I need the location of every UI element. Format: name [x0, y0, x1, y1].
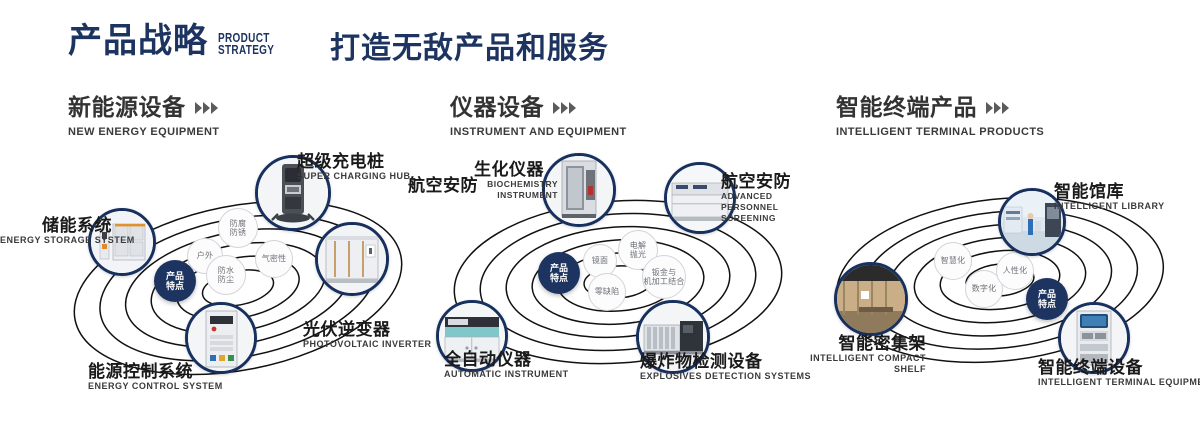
feature-bubble-text: 机加工结合 [644, 277, 685, 286]
section-title-intelligent-terminal: 智能终端产品 INTELLIGENT TERMINAL PRODUCTS [836, 96, 1044, 138]
chevron-right-icon [195, 102, 218, 114]
label-cn: 爆炸物检测设备 [640, 352, 811, 371]
label-biochemistry-instrument: 生化仪器 BIOCHEMISTRY INSTRUMENT [474, 160, 558, 201]
feature-bubble-text: 电解 [630, 241, 646, 250]
compact-shelf-icon [837, 265, 905, 333]
label-advanced-personnel-screening: 航空安防 ADVANCED PERSONNEL SCREENING [721, 172, 817, 224]
section-title-new-energy: 新能源设备 NEW ENERGY EQUIPMENT [68, 96, 219, 138]
label-cn: 储能系统 [0, 216, 112, 235]
core-badge-line2: 特点 [166, 281, 184, 291]
header-title-en-line2: STRATEGY [218, 44, 274, 56]
header-title-cn: 产品战略 [68, 24, 208, 58]
section-title-en: NEW ENERGY EQUIPMENT [68, 126, 219, 138]
feature-bubble-text: 户外 [197, 251, 213, 260]
section-title-cn: 仪器设备 [450, 96, 544, 119]
feature-bubble-text: 人性化 [1003, 266, 1028, 275]
label-cn: 航空安防 [721, 172, 817, 191]
label-aviation-security-left: 航空安防 [408, 176, 478, 195]
label-cn: 智能终端设备 [1038, 358, 1200, 377]
feature-bubble-text: 钣金与 [652, 268, 677, 277]
feature-bubble-humanized: 人性化 [996, 252, 1034, 290]
core-badge-line1: 产品 [1038, 289, 1056, 299]
label-cn: 智能馆库 [1054, 182, 1165, 201]
section-title-en: INSTRUMENT AND EQUIPMENT [450, 126, 627, 138]
feature-bubble-waterproof: 防水 防尘 [206, 255, 246, 295]
feature-bubble-text: 气密性 [262, 254, 287, 263]
feature-bubble-text: 防水 [218, 266, 234, 275]
core-badge-line2: 特点 [1038, 299, 1056, 309]
label-cn: 全自动仪器 [444, 350, 569, 369]
label-cn: 超级充电桩 [297, 152, 411, 171]
label-automatic-instrument: 全自动仪器 AUTOMATIC INSTRUMENT [444, 350, 569, 380]
section-title-instrument: 仪器设备 INSTRUMENT AND EQUIPMENT [450, 96, 627, 138]
label-cn: 智能密集架 [806, 334, 926, 353]
pv-inverter-cabinet-icon [318, 225, 386, 293]
label-super-charging-hub: 超级充电桩 SUPER CHARGING HUB [297, 152, 411, 182]
label-energy-control-system: 能源控制系统 ENERGY CONTROL SYSTEM [88, 362, 223, 392]
section-title-cn: 智能终端产品 [836, 96, 977, 119]
feature-bubble-zero-defect: 零缺陷 [588, 273, 626, 311]
label-en: PHOTOVOLTAIC INVERTER [303, 339, 432, 350]
feature-bubble-sheetmetal-machining: 钣金与 机加工结合 [642, 255, 686, 299]
feature-bubble-text: 镜面 [592, 256, 608, 265]
feature-bubble-text: 防锈 [230, 228, 246, 237]
feature-bubble-smart: 智慧化 [934, 242, 972, 280]
label-en: SUPER CHARGING HUB [297, 171, 411, 182]
node-intelligent-compact-shelf[interactable] [834, 262, 908, 336]
feature-bubble-text: 智慧化 [941, 256, 966, 265]
label-en: INTELLIGENT LIBRARY [1054, 201, 1165, 212]
feature-bubble-anticorrosion: 防腐 防锈 [218, 208, 258, 248]
label-en: BIOCHEMISTRY INSTRUMENT [474, 179, 558, 201]
label-intelligent-terminal-equipment: 智能终端设备 INTELLIGENT TERMINAL EQUIPMENT [1038, 358, 1200, 388]
label-cn: 生化仪器 [474, 160, 558, 179]
label-intelligent-library: 智能馆库 INTELLIGENT LIBRARY [1054, 182, 1165, 212]
label-en: ENERGY STORAGE SYSTEM [0, 235, 112, 246]
core-badge-line1: 产品 [550, 263, 568, 273]
core-badge-line1: 产品 [166, 271, 184, 281]
poster-canvas: 产品战略 PRODUCT STRATEGY 打造无敌产品和服务 新能源设备 NE… [0, 0, 1200, 422]
label-energy-storage: 储能系统 ENERGY STORAGE SYSTEM [0, 216, 112, 246]
label-cn: 航空安防 [408, 176, 478, 195]
label-en: INTELLIGENT COMPACT SHELF [806, 353, 926, 375]
label-pv-inverter: 光伏逆变器 PHOTOVOLTAIC INVERTER [303, 320, 432, 350]
header-slogan: 打造无敌产品和服务 [330, 34, 609, 64]
label-cn: 光伏逆变器 [303, 320, 432, 339]
section-title-cn: 新能源设备 [68, 96, 186, 119]
label-intelligent-compact-shelf: 智能密集架 INTELLIGENT COMPACT SHELF [806, 334, 926, 375]
poster-header: 产品战略 PRODUCT STRATEGY [68, 24, 288, 58]
core-badge-line2: 特点 [550, 273, 568, 283]
label-cn: 能源控制系统 [88, 362, 223, 381]
feature-bubble-text: 防腐 [230, 219, 246, 228]
chevron-right-icon [986, 102, 1009, 114]
feature-bubble-text: 数字化 [972, 284, 997, 293]
core-badge-instrument: 产品 特点 [538, 252, 580, 294]
label-explosives-detection: 爆炸物检测设备 EXPLOSIVES DETECTION SYSTEMS [640, 352, 811, 382]
label-en: ADVANCED PERSONNEL SCREENING [721, 191, 817, 224]
label-en: EXPLOSIVES DETECTION SYSTEMS [640, 371, 811, 382]
feature-bubble-airtight: 气密性 [255, 240, 293, 278]
feature-bubble-text: 抛光 [630, 250, 646, 259]
label-en: AUTOMATIC INSTRUMENT [444, 369, 569, 380]
feature-bubble-text: 防尘 [218, 275, 234, 284]
node-pv-inverter[interactable] [315, 222, 389, 296]
header-title-en: PRODUCT STRATEGY [218, 32, 274, 56]
label-en: INTELLIGENT TERMINAL EQUIPMENT [1038, 377, 1200, 388]
feature-bubble-text: 零缺陷 [595, 287, 620, 296]
chevron-right-icon [553, 102, 576, 114]
section-title-en: INTELLIGENT TERMINAL PRODUCTS [836, 126, 1044, 138]
label-en: ENERGY CONTROL SYSTEM [88, 381, 223, 392]
